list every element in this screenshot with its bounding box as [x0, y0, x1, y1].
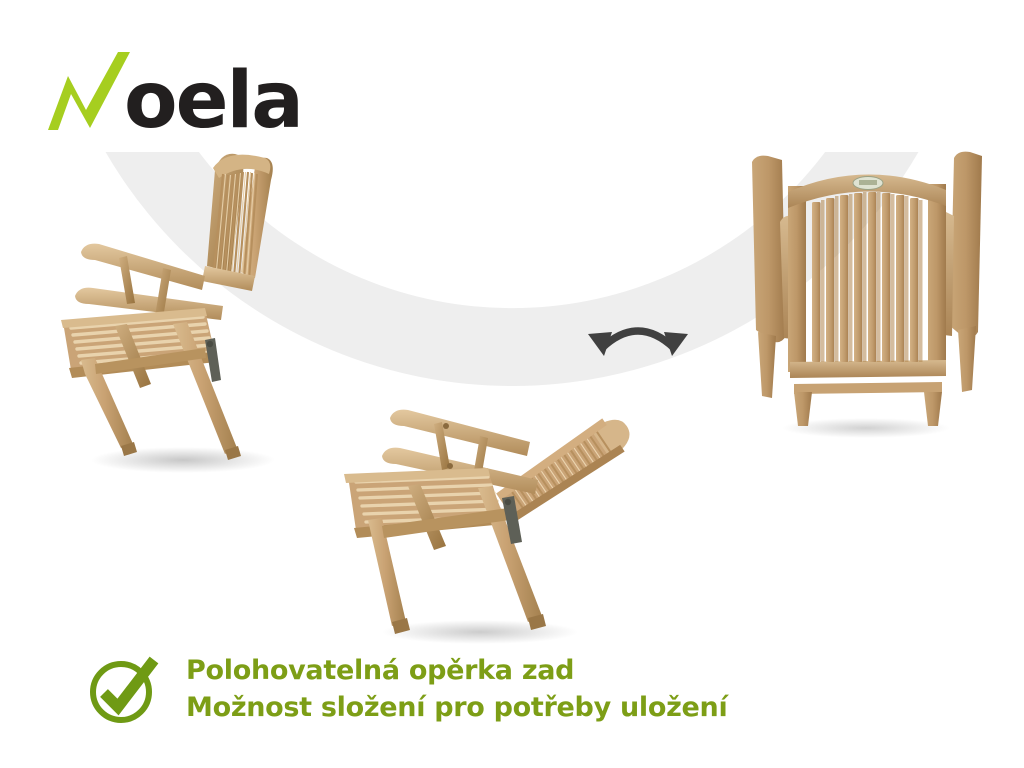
circle-check-icon — [86, 652, 160, 726]
brand-wordmark: oela — [124, 70, 302, 134]
marketing-banner: oela — [0, 0, 1024, 768]
recline-double-arrow — [582, 308, 694, 370]
feature-line-2: Možnost složení pro potřeby uložení — [186, 692, 727, 723]
noela-n-monogram-icon — [44, 48, 130, 134]
feature-lines: Polohovatelná opěrka zad Možnost složení… — [186, 655, 727, 724]
teak-folding-chair-reclined-side-view — [330, 330, 650, 650]
teak-folding-chair-upright-side-view — [55, 148, 315, 478]
brand-logo: oela — [44, 48, 302, 134]
feature-line-1: Polohovatelná opěrka zad — [186, 655, 727, 686]
brand-plaque — [853, 177, 883, 190]
teak-folding-chair-folded-back-view — [742, 140, 990, 440]
feature-list: Polohovatelná opěrka zad Možnost složení… — [86, 652, 727, 726]
